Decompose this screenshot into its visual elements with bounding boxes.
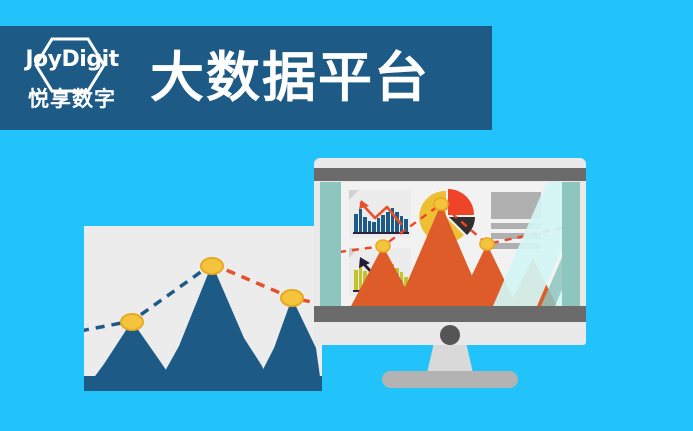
dashboard-content [341, 182, 562, 306]
data-marker [376, 240, 390, 252]
monitor-bottom-bar [314, 306, 586, 322]
data-marker [201, 258, 223, 274]
orange-mountain-chart[interactable] [341, 182, 562, 306]
poster-canvas: JoyDigit 悦享数字 大数据平台 [0, 0, 693, 431]
screen-side-accent-left [320, 182, 341, 306]
data-marker [434, 198, 448, 210]
monitor-screen [320, 182, 580, 306]
monitor-top-bar [314, 168, 586, 181]
trend-line-segment-red [212, 264, 322, 304]
monitor-power-dot-icon [440, 325, 460, 345]
logo-subtitle: 悦享数字 [12, 89, 132, 110]
mountain-baseline [84, 376, 322, 391]
logo-wordmark: JoyDigit [12, 49, 132, 71]
data-marker [281, 290, 303, 306]
monitor [314, 158, 586, 345]
data-marker [121, 314, 143, 330]
header-banner: JoyDigit 悦享数字 大数据平台 [0, 26, 492, 130]
blue-mountain-panel [84, 226, 322, 391]
area-peak-far-right [509, 258, 557, 306]
monitor-stand-neck [427, 345, 473, 373]
mountain-shape-center [154, 264, 272, 391]
brand-logo: JoyDigit 悦享数字 [12, 35, 132, 121]
blue-mountain-chart [84, 226, 322, 391]
screen-side-accent-right [562, 182, 580, 306]
monitor-stand-base [382, 371, 518, 388]
page-title: 大数据平台 [150, 51, 430, 105]
data-marker [480, 238, 494, 250]
